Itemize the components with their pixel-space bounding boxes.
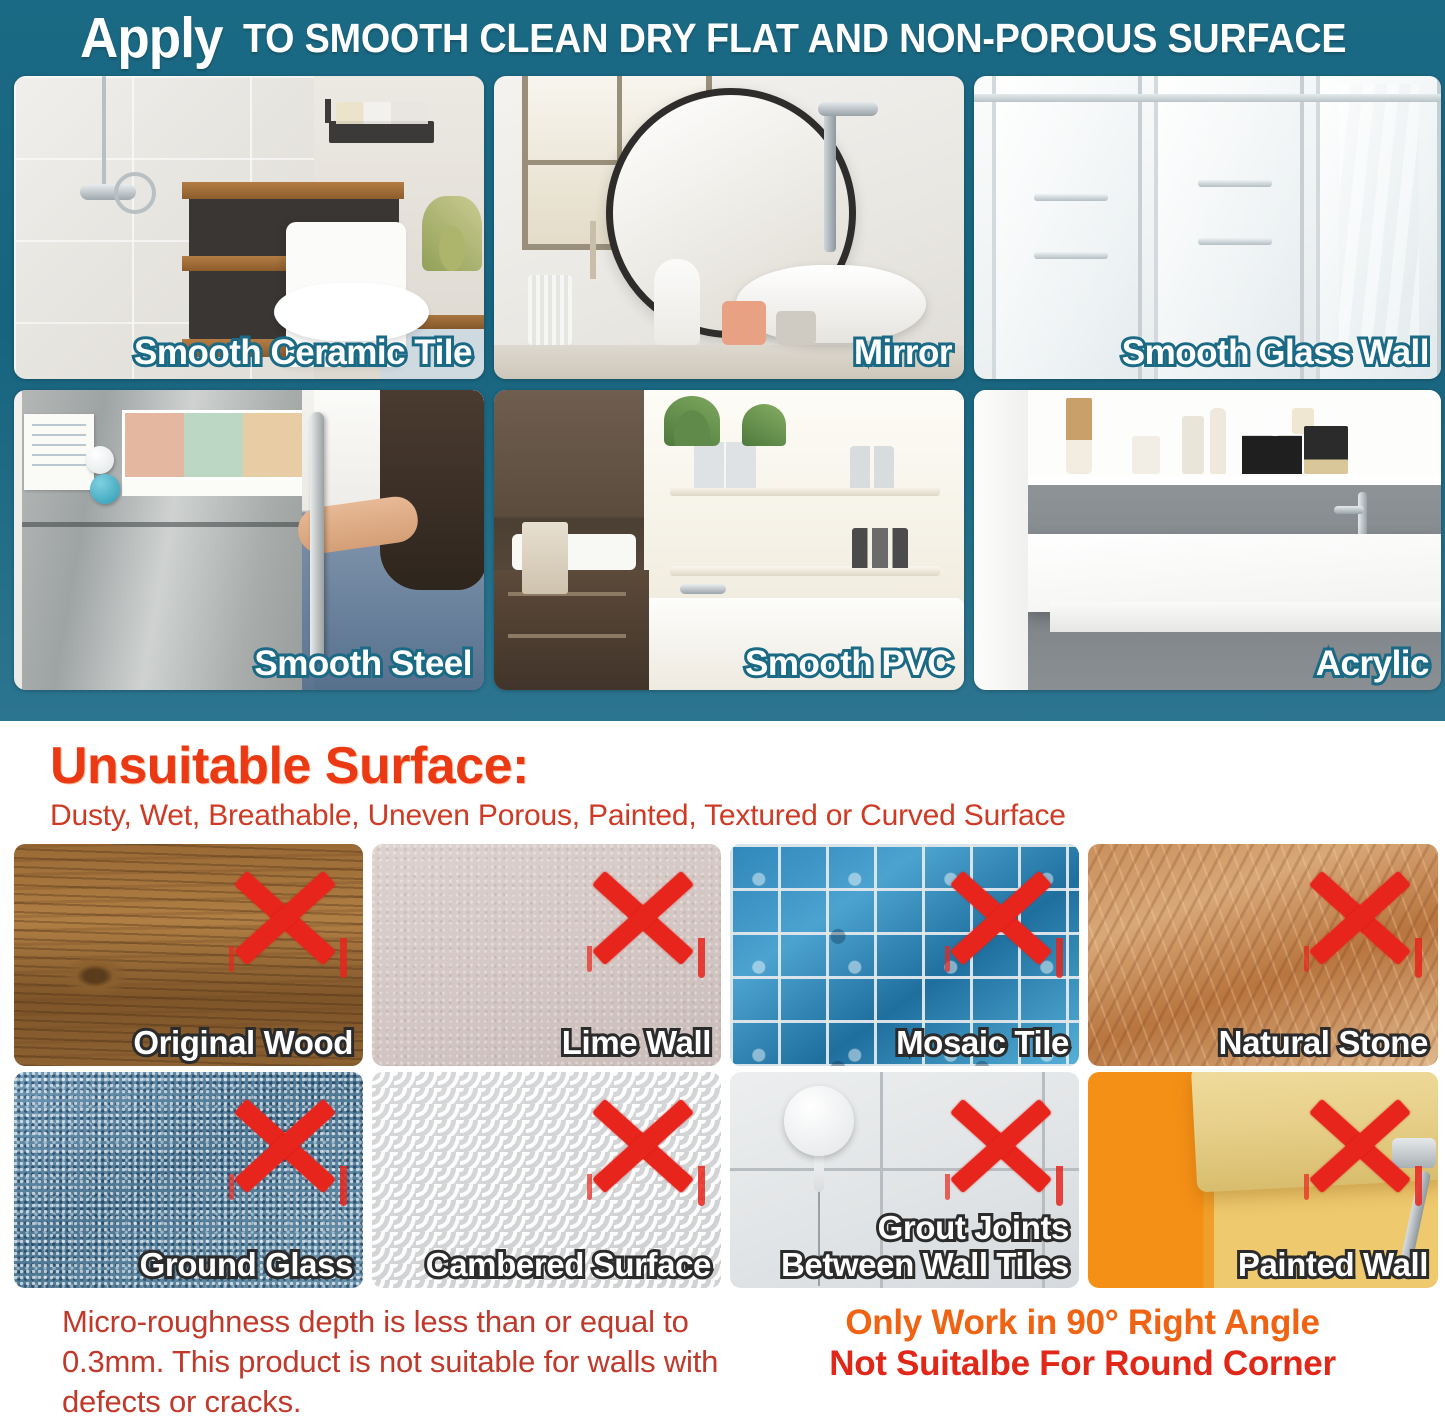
unsuitable-label-painted-wall: Painted Wall xyxy=(1238,1247,1428,1284)
unsuitable-cell-mosaic-tile: Mosaic Tile xyxy=(730,844,1079,1066)
unsuitable-surfaces-section: Unsuitable Surface: Dusty, Wet, Breathab… xyxy=(0,721,1445,1418)
warning-prefix: Only Work in xyxy=(845,1303,1066,1342)
unsuitable-cell-cambered-surface: Cambered Surface xyxy=(372,1072,721,1288)
unsuitable-cell-lime-wall: Lime Wall xyxy=(372,844,721,1066)
suitable-cell-smooth-pvc: Smooth PVC xyxy=(494,390,964,690)
unsuitable-label-cambered-surface: Cambered Surface xyxy=(426,1247,711,1284)
header-banner: Apply TO SMOOTH CLEAN DRY FLAT AND NON-P… xyxy=(14,0,1431,76)
unsuitable-label-original-wood: Original Wood xyxy=(133,1025,353,1062)
unsuitable-label-natural-stone: Natural Stone xyxy=(1219,1025,1428,1062)
suitable-cell-mirror: Mirror xyxy=(494,76,964,379)
unsuitable-title: Unsuitable Surface: xyxy=(14,721,1431,794)
warning-line-1: Only Work in 90° Right Angle xyxy=(748,1302,1417,1343)
suitable-cell-acrylic: Acrylic xyxy=(974,390,1441,690)
unsuitable-cell-painted-wall: Painted Wall xyxy=(1088,1072,1438,1288)
unsuitable-label-mosaic-tile: Mosaic Tile xyxy=(896,1025,1069,1062)
unsuitable-cell-ground-glass: Ground Glass xyxy=(14,1072,363,1288)
unsuitable-label-lime-wall: Lime Wall xyxy=(562,1025,711,1062)
unsuitable-label-ground-glass: Ground Glass xyxy=(140,1247,353,1284)
unsuitable-surfaces-grid: Original Wood Lime Wall Mosaic Tile Natu… xyxy=(14,844,1431,1288)
header-apply-word: Apply xyxy=(80,10,223,67)
right-angle-warning: Only Work in 90° Right Angle Not Suitalb… xyxy=(748,1302,1417,1418)
suitable-label-smooth-steel: Smooth Steel xyxy=(254,644,472,684)
suitable-label-smooth-ceramic-tile: Smooth Ceramic Tile xyxy=(134,333,472,373)
suitable-cell-smooth-ceramic-tile: Smooth Ceramic Tile xyxy=(14,76,484,379)
suitable-cell-smooth-glass-wall: Smooth Glass Wall xyxy=(974,76,1441,379)
footer-notes: Micro-roughness depth is less than or eq… xyxy=(14,1288,1431,1418)
infographic-page: Apply TO SMOOTH CLEAN DRY FLAT AND NON-P… xyxy=(0,0,1445,1418)
unsuitable-cell-natural-stone: Natural Stone xyxy=(1088,844,1438,1066)
warning-line-2: Not Suitalbe For Round Corner xyxy=(748,1343,1417,1384)
warning-emphasis: 90° Right Angle xyxy=(1066,1303,1319,1342)
suitable-label-smooth-glass-wall: Smooth Glass Wall xyxy=(1122,333,1429,373)
unsuitable-cell-grout-joints: Grout JointsBetween Wall Tiles xyxy=(730,1072,1079,1288)
suitable-cell-smooth-steel: Smooth Steel xyxy=(14,390,484,690)
suitable-label-smooth-pvc: Smooth PVC xyxy=(745,644,952,684)
unsuitable-cell-original-wood: Original Wood xyxy=(14,844,363,1066)
suitable-surfaces-grid: Smooth Ceramic Tile Mirror xyxy=(14,76,1431,690)
micro-roughness-note: Micro-roughness depth is less than or eq… xyxy=(28,1302,748,1418)
unsuitable-subtitle: Dusty, Wet, Breathable, Uneven Porous, P… xyxy=(14,794,1431,844)
suitable-label-mirror: Mirror xyxy=(854,333,952,373)
suitable-surfaces-section: Apply TO SMOOTH CLEAN DRY FLAT AND NON-P… xyxy=(0,0,1445,721)
unsuitable-label-grout-joints: Grout JointsBetween Wall Tiles xyxy=(781,1210,1069,1284)
header-subtitle: TO SMOOTH CLEAN DRY FLAT AND NON-POROUS … xyxy=(243,18,1346,59)
suitable-label-acrylic: Acrylic xyxy=(1316,644,1429,684)
